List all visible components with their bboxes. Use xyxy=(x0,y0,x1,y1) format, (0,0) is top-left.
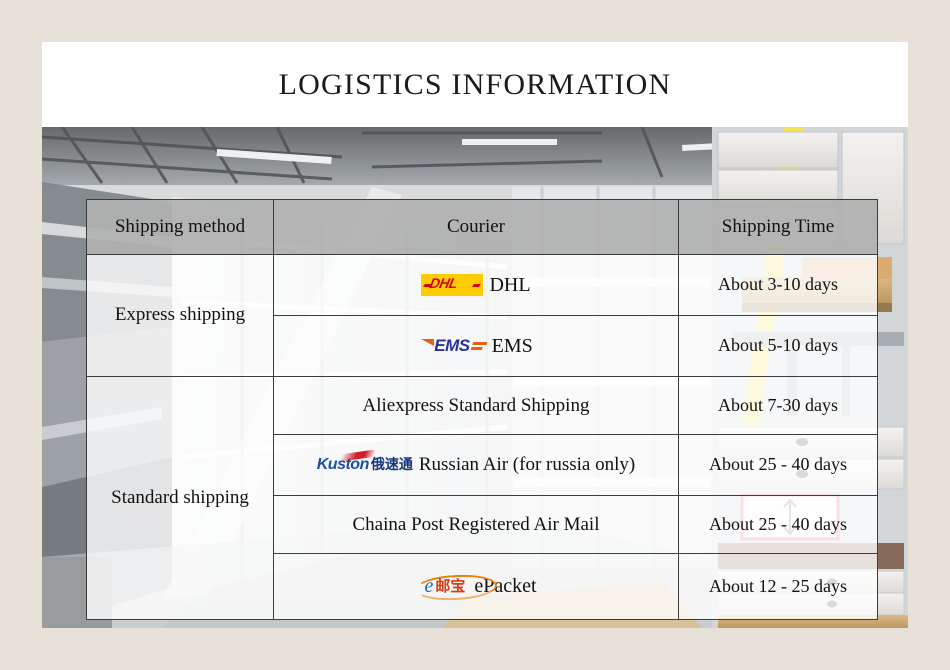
header-courier: Courier xyxy=(274,200,679,255)
time-china-post: About 25 - 40 days xyxy=(679,495,878,553)
table-row: Express shipping DHL DHL xyxy=(87,255,878,316)
courier-aliexpress: Aliexpress Standard Shipping xyxy=(274,376,679,434)
dhl-logo-icon: DHL xyxy=(421,274,483,296)
time-russian-air: About 25 - 40 days xyxy=(679,434,878,495)
time-epacket: About 12 - 25 days xyxy=(679,553,878,619)
table-header-row: Shipping method Courier Shipping Time xyxy=(87,200,878,255)
time-ems: About 5-10 days xyxy=(679,315,878,376)
page-root: LOGISTICS INFORMATION xyxy=(0,0,950,670)
header-shipping-method: Shipping method xyxy=(87,200,274,255)
dhl-logo-text: DHL xyxy=(429,276,459,290)
logistics-table-container: Shipping method Courier Shipping Time Ex… xyxy=(86,199,877,620)
method-standard-shipping: Standard shipping xyxy=(87,376,274,619)
courier-dhl: DHL DHL xyxy=(274,255,679,316)
courier-china-post: Chaina Post Registered Air Mail xyxy=(274,495,679,553)
epacket-logo-icon: e 邮宝 xyxy=(415,574,468,598)
epacket-logo-chinese: 邮宝 xyxy=(435,579,465,594)
logistics-table: Shipping method Courier Shipping Time Ex… xyxy=(86,199,878,620)
courier-ems: EMS EMS xyxy=(274,315,679,376)
method-express-shipping: Express shipping xyxy=(87,255,274,377)
time-aliexpress: About 7-30 days xyxy=(679,376,878,434)
courier-label: Chaina Post Registered Air Mail xyxy=(353,515,600,534)
header-shipping-time: Shipping Time xyxy=(679,200,878,255)
courier-label: Aliexpress Standard Shipping xyxy=(363,396,590,415)
courier-epacket: e 邮宝 ePacket xyxy=(274,553,679,619)
ems-logo-text: EMS xyxy=(434,337,469,354)
kuston-logo-icon: Kuston 俄速通 xyxy=(317,454,413,476)
courier-label: Russian Air (for russia only) xyxy=(419,455,635,474)
ems-logo-icon: EMS xyxy=(419,335,485,357)
courier-label: EMS xyxy=(492,336,533,356)
courier-russian-air: Kuston 俄速通 Russian Air (for russia only) xyxy=(274,434,679,495)
courier-label: DHL xyxy=(489,275,530,295)
logistics-card: LOGISTICS INFORMATION xyxy=(42,42,908,628)
warehouse-background-photo: Shipping method Courier Shipping Time Ex… xyxy=(42,127,908,628)
table-row: Standard shipping Aliexpress Standard Sh… xyxy=(87,376,878,434)
kuston-logo-chinese: 俄速通 xyxy=(371,458,413,472)
epacket-logo-e: e xyxy=(424,576,433,596)
title-band: LOGISTICS INFORMATION xyxy=(42,42,908,127)
time-dhl: About 3-10 days xyxy=(679,255,878,316)
page-title: LOGISTICS INFORMATION xyxy=(279,68,672,102)
